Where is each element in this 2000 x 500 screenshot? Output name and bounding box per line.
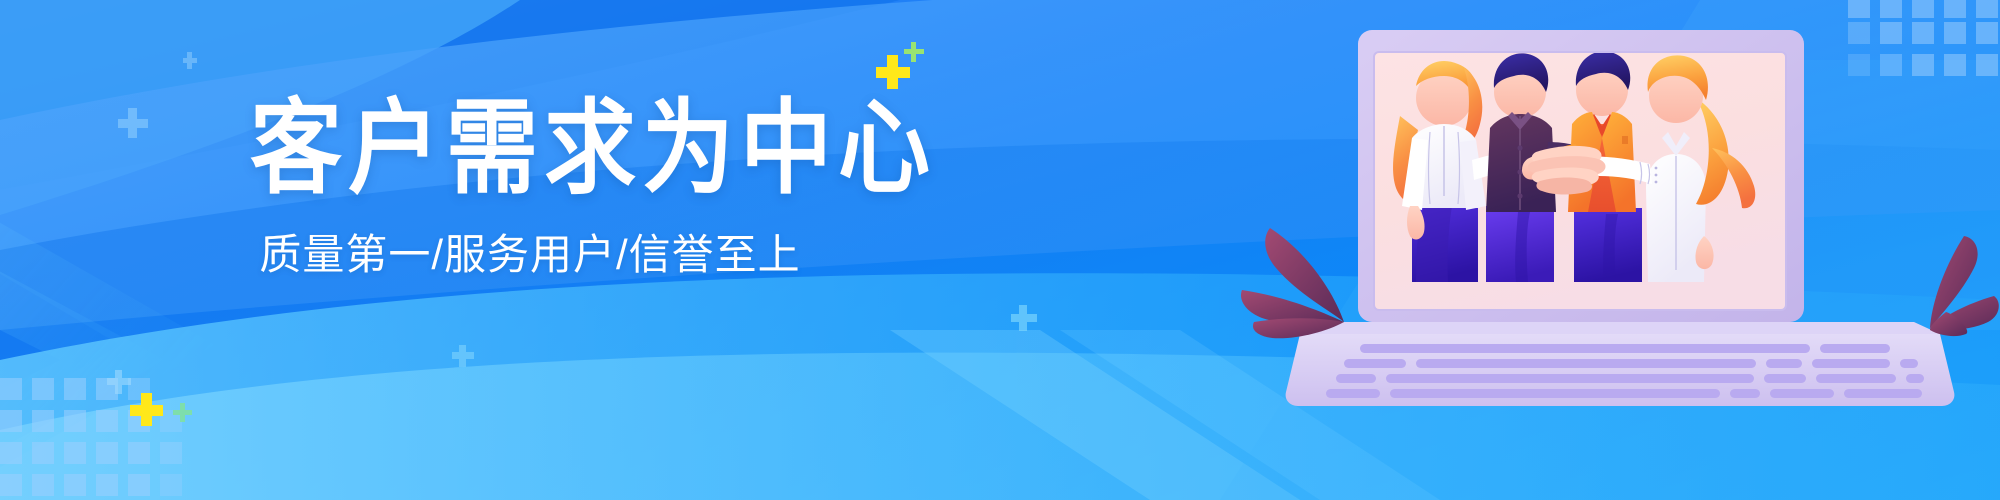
subtitle: 质量第一/服务用户/信誉至上 xyxy=(250,232,810,278)
cross-soft-blue-mid xyxy=(118,108,148,138)
cross-soft-blue-lower xyxy=(107,370,131,394)
cross-soft-blue-right xyxy=(1011,305,1037,331)
leaf-cluster-left xyxy=(1241,228,1344,338)
cross-yellow-large-top xyxy=(876,55,910,89)
copy-block: 客户需求为中心 质量第一/服务用户/信誉至上 xyxy=(250,96,810,278)
laptop-lid xyxy=(1358,30,1804,322)
cross-soft-blue-top xyxy=(183,52,197,69)
cross-soft-blue-center xyxy=(452,345,474,367)
cross-yellow-large-bottom xyxy=(130,393,163,426)
cross-green-small-bottom xyxy=(173,403,192,422)
page-title: 客户需求为中心 xyxy=(250,96,810,201)
leaf-cluster-right xyxy=(1930,236,1999,336)
laptop-base xyxy=(1286,322,1955,406)
promo-banner: 客户需求为中心 质量第一/服务用户/信誉至上 xyxy=(0,0,2000,500)
cross-green-small-top xyxy=(904,42,924,62)
grid-bottom-left xyxy=(0,378,182,496)
laptop-team-illustration xyxy=(1240,0,2000,500)
